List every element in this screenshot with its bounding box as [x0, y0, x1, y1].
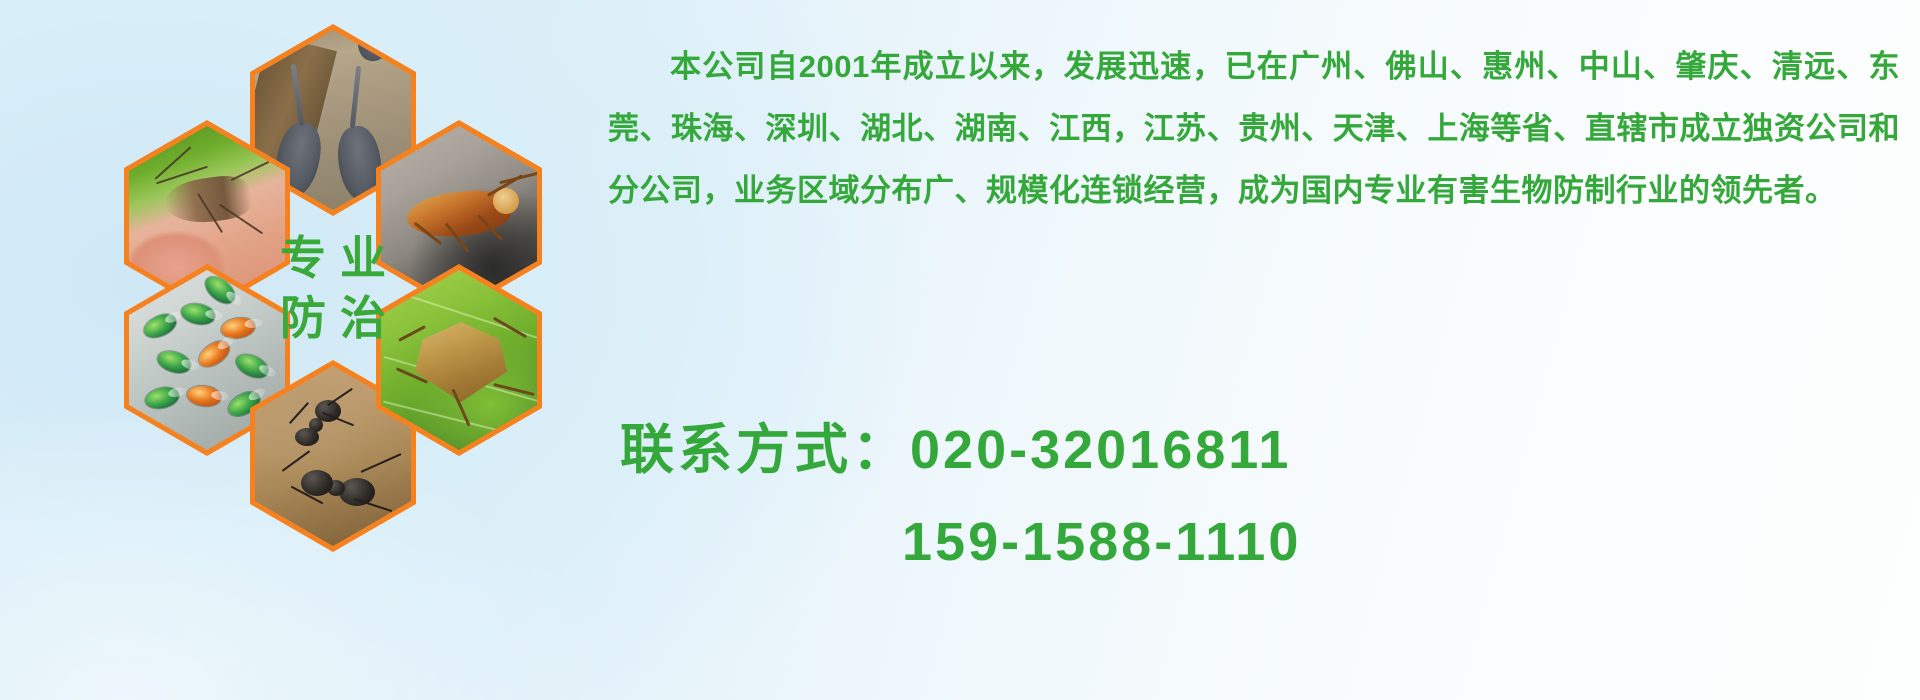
- honeycomb-center-label: 专业 防治: [245, 188, 421, 388]
- honeycomb-image-cluster: 专业 防治: [78, 0, 598, 700]
- center-label-line2: 防治: [266, 295, 400, 341]
- company-description-block: 本公司自2001年成立以来，发展迅速，已在广州、佛山、惠州、中山、肇庆、清远、东…: [608, 36, 1900, 222]
- center-label-line1: 专业: [266, 235, 400, 281]
- phone-primary[interactable]: 020-32016811: [910, 404, 1291, 496]
- pest-control-banner: 专业 防治 本公司自2001年成立以来，发展迅速，已在广州、佛山、惠州、中山、肇…: [0, 0, 1920, 700]
- contact-row-secondary: 159-1588-1110: [620, 496, 1920, 588]
- contact-block: 联系方式： 020-32016811 159-1588-1110: [620, 404, 1920, 588]
- phone-secondary[interactable]: 159-1588-1110: [902, 496, 1301, 588]
- company-description-paragraph: 本公司自2001年成立以来，发展迅速，已在广州、佛山、惠州、中山、肇庆、清远、东…: [608, 36, 1900, 222]
- contact-row-primary: 联系方式： 020-32016811: [620, 404, 1920, 496]
- contact-label: 联系方式：: [620, 404, 910, 496]
